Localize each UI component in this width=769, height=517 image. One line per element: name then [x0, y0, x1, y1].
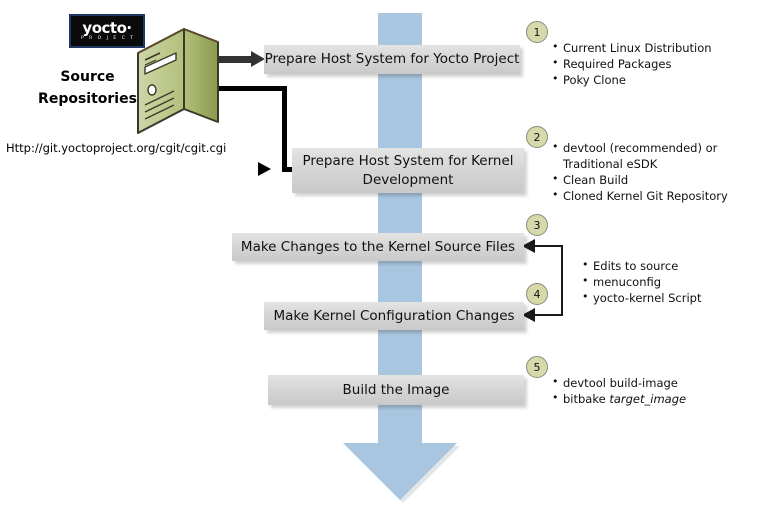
step-number-1: 1 — [526, 21, 548, 43]
bullet-item: Edits to source — [581, 258, 702, 274]
bracket-top-arm — [533, 245, 563, 247]
step-box-4[interactable]: Make Kernel Configuration Changes — [264, 302, 524, 330]
step-box-2-label-line1: Prepare Host System for Kernel — [302, 152, 513, 171]
step-number-3-text: 3 — [534, 219, 541, 232]
bullet-command-arg: target_image — [609, 392, 686, 406]
step-box-2[interactable]: Prepare Host System for Kernel Developme… — [292, 148, 524, 193]
connector-arrowhead-step1 — [251, 51, 265, 67]
connector-arrowhead-step2 — [258, 162, 271, 176]
bullet-item: menuconfig — [581, 274, 702, 290]
step-box-1-label: Prepare Host System for Yocto Project — [265, 50, 520, 69]
bullet-command: bitbake — [563, 392, 609, 406]
connector-server-to-step2-h1 — [219, 86, 287, 91]
steps-3-4-shared-bullets: Edits to source menuconfig yocto-kernel … — [581, 258, 702, 306]
step-5-bullets: devtool build-image bitbake target_image — [551, 375, 686, 407]
logo-wordmark: yocto· — [71, 16, 143, 36]
server-icon — [136, 27, 220, 136]
connector-server-to-step1 — [219, 56, 255, 63]
step-2-bullets: devtool (recommended) or Traditional eSD… — [551, 140, 728, 204]
bullet-item: Poky Clone — [551, 72, 712, 88]
step-number-2: 2 — [526, 126, 548, 148]
step-number-3: 3 — [526, 214, 548, 236]
step-number-1-text: 1 — [534, 26, 541, 39]
bullet-item: devtool (recommended) or — [551, 140, 728, 156]
step-box-3[interactable]: Make Changes to the Kernel Source Files — [232, 233, 524, 261]
step-box-4-label: Make Kernel Configuration Changes — [273, 307, 514, 326]
bullet-item: Cloned Kernel Git Repository — [551, 188, 728, 204]
bracket-bottom-arm — [533, 314, 563, 316]
step-box-2-label-line2: Development — [363, 171, 454, 190]
step-box-1[interactable]: Prepare Host System for Yocto Project — [264, 45, 520, 74]
source-repositories-label: Source Repositories — [30, 66, 145, 110]
source-label-line2: Repositories — [30, 88, 145, 110]
step-number-4-text: 4 — [534, 288, 541, 301]
diagram-canvas: yocto· P R O J E C T Source Repositories… — [0, 0, 769, 517]
step-number-4: 4 — [526, 283, 548, 305]
flow-arrow-head — [343, 443, 457, 500]
bullet-item: Current Linux Distribution — [551, 40, 712, 56]
step-box-3-label: Make Changes to the Kernel Source Files — [241, 238, 515, 257]
step-box-5-label: Build the Image — [343, 381, 450, 400]
source-label-line1: Source — [30, 66, 145, 88]
step-number-2-text: 2 — [534, 131, 541, 144]
bullet-item: bitbake target_image — [551, 391, 686, 407]
step-number-5-text: 5 — [534, 361, 541, 374]
bullet-item: Required Packages — [551, 56, 712, 72]
bracket-vertical — [561, 245, 563, 316]
logo-subtitle: P R O J E C T — [71, 36, 143, 42]
bullet-item-continuation: Traditional eSDK — [551, 156, 728, 172]
step-box-5[interactable]: Build the Image — [268, 375, 524, 405]
bullet-item: yocto-kernel Script — [581, 290, 702, 306]
bullet-item: devtool build-image — [551, 375, 686, 391]
bullet-item: Clean Build — [551, 172, 728, 188]
step-number-5: 5 — [526, 356, 548, 378]
step-1-bullets: Current Linux Distribution Required Pack… — [551, 40, 712, 88]
yocto-project-logo: yocto· P R O J E C T — [69, 14, 145, 48]
source-repository-url: Http://git.yoctoproject.org/cgit/cgit.cg… — [6, 141, 226, 155]
connector-server-to-step2-v — [282, 86, 287, 172]
